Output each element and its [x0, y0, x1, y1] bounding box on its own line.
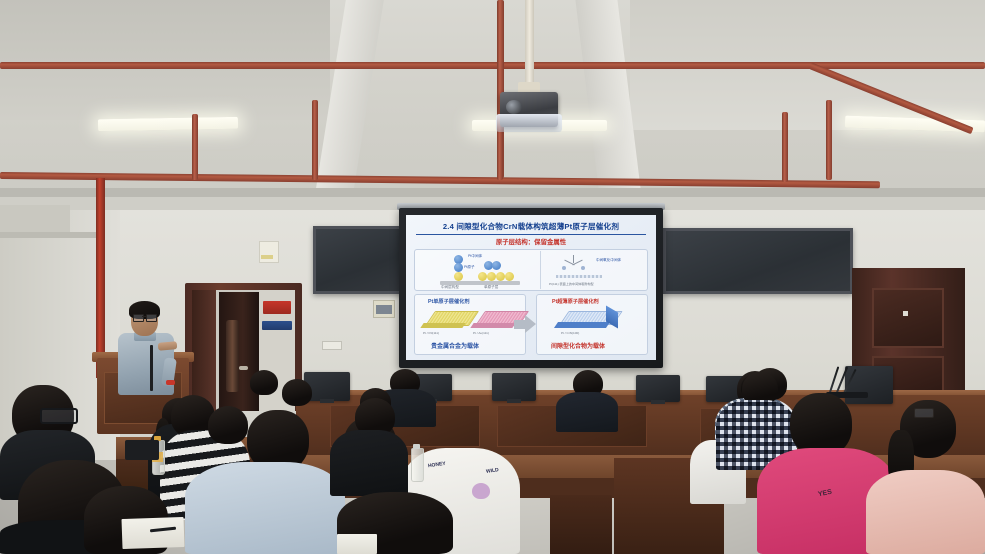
- atom-yellow-4: [505, 272, 514, 281]
- presenter-glasses-right-lens: [146, 314, 157, 322]
- slide-caption-bottom-left: 贵金属合金为载体: [431, 341, 479, 350]
- slide-heading-bottom-left: Pt单原子层催化剂: [428, 298, 470, 305]
- door-right-emblem-icon: [903, 311, 908, 316]
- wall-junction-box-label: [261, 255, 273, 259]
- molecule-stem: [573, 255, 574, 263]
- pipe-drop-1: [192, 114, 198, 180]
- slab-pink-edge: [470, 323, 515, 328]
- exit-sign: [263, 301, 291, 314]
- blackboard-left: [313, 226, 408, 294]
- head: [208, 406, 248, 444]
- atom-yellow-base-left: [454, 272, 463, 281]
- head: [250, 370, 278, 395]
- wall-control-panel-display: [376, 305, 392, 314]
- transition-arrow-icon: [525, 315, 536, 333]
- torso: [866, 470, 985, 554]
- projector-light-glow: [496, 114, 562, 132]
- pipe-drop-5: [826, 100, 832, 180]
- fluorescent-light-left: [98, 117, 238, 131]
- eyeglasses[interactable]: [914, 408, 934, 418]
- desk-divider-center: [550, 495, 612, 554]
- door-handle-left[interactable]: [239, 366, 248, 370]
- projector-lens-icon: [506, 100, 522, 114]
- slide-caption-left: 中间层构型: [441, 285, 459, 290]
- monitor-4-stand: [651, 400, 665, 404]
- torso: [330, 430, 408, 496]
- door-right-panel-upper[interactable]: [872, 288, 944, 348]
- slide-label-atom: Pt原子: [464, 265, 475, 270]
- projection-screen: 2.4 间隙型化合物CrN载体构筑超薄Pt原子层催化剂 原子层结构：保留金属性 …: [406, 215, 656, 360]
- red-wall-pipe: [96, 178, 105, 378]
- monitor-4[interactable]: [636, 375, 680, 402]
- wall-junction-box: [259, 241, 279, 263]
- slide-title: 2.4 间隙型化合物CrN载体构筑超薄Pt原子层催化剂: [412, 221, 650, 232]
- slide-caption-bottom-right: 间隙型化合物为载体: [551, 341, 605, 350]
- wall-trim: [0, 232, 96, 238]
- torso: [185, 462, 345, 554]
- presenter-wristband: [166, 380, 175, 385]
- slide-title-underline: [416, 234, 646, 235]
- notepad[interactable]: [121, 517, 184, 549]
- ceiling-edge: [0, 188, 985, 197]
- slide-caption-right: 单原子层: [484, 285, 498, 290]
- molecule-atom-right: [581, 266, 585, 270]
- water-bottle-right[interactable]: [411, 448, 424, 482]
- atom-yellow-2: [487, 272, 496, 281]
- slide-legend-right: Pt / Au(111): [473, 331, 489, 335]
- water-bottle-right-cap: [413, 444, 420, 449]
- atom-blue-mid: [454, 263, 463, 272]
- shirt-graphic: [472, 483, 490, 499]
- sprinkler-pipe-upper: [0, 62, 985, 69]
- pipe-drop-2: [312, 100, 318, 180]
- slide-label-oxide-intermediate: 中间氧化中间体: [596, 258, 621, 263]
- slide-label-intermediate: Pt中间体: [468, 254, 482, 259]
- blackboard-right: [663, 228, 853, 294]
- presenter-microphone-stand: [150, 345, 153, 391]
- eyeglasses[interactable]: [40, 408, 78, 424]
- light-switch[interactable]: [322, 341, 342, 350]
- ceiling-panel-left: [0, 0, 330, 120]
- atom-blue-pair-b: [492, 261, 501, 270]
- slide-legend-bottom-right: Pt / CrN(100): [561, 331, 579, 335]
- paper-sheet[interactable]: [337, 534, 377, 554]
- pipe-drop-4: [782, 112, 788, 182]
- monitor-3[interactable]: [492, 373, 536, 401]
- presenter-hand: [158, 341, 178, 351]
- laptop-left[interactable]: [125, 440, 159, 460]
- wall-pillar: [0, 205, 70, 235]
- slide-panel-top-divider: [540, 251, 541, 289]
- projector-mount-pole: [525, 0, 534, 84]
- lecture-hall-photo: 2.4 间隙型化合物CrN载体构筑超薄Pt原子层催化剂 原子层结构：保留金属性 …: [0, 0, 985, 554]
- atom-yellow-3: [496, 272, 505, 281]
- atom-yellow-1: [478, 272, 487, 281]
- door-left-interior: [219, 292, 259, 411]
- head: [282, 379, 312, 406]
- slab-yellow-edge: [420, 323, 465, 328]
- slide-heading-bottom-right: Pt超薄原子层催化剂: [552, 298, 599, 305]
- substrate-surface: [556, 275, 602, 278]
- monitor-1-stand: [320, 399, 334, 403]
- molecule-atom-left: [562, 266, 566, 270]
- slide-caption-top-right: Pt(111) 表面上的中间体吸附构型: [549, 281, 594, 286]
- door-left-interior-object: [226, 320, 239, 392]
- torso: [556, 392, 618, 432]
- door-left-open-leaf[interactable]: [192, 290, 216, 411]
- slide-legend-left: Pt / Pd(111): [423, 331, 439, 335]
- slab-blue-support: [554, 322, 610, 328]
- classroom-notice-sign: [262, 321, 292, 330]
- presenter-glasses-bridge: [142, 316, 147, 317]
- monitor-3-stand: [507, 399, 521, 403]
- slide-subtitle: 原子层结构：保留金属性: [412, 237, 650, 246]
